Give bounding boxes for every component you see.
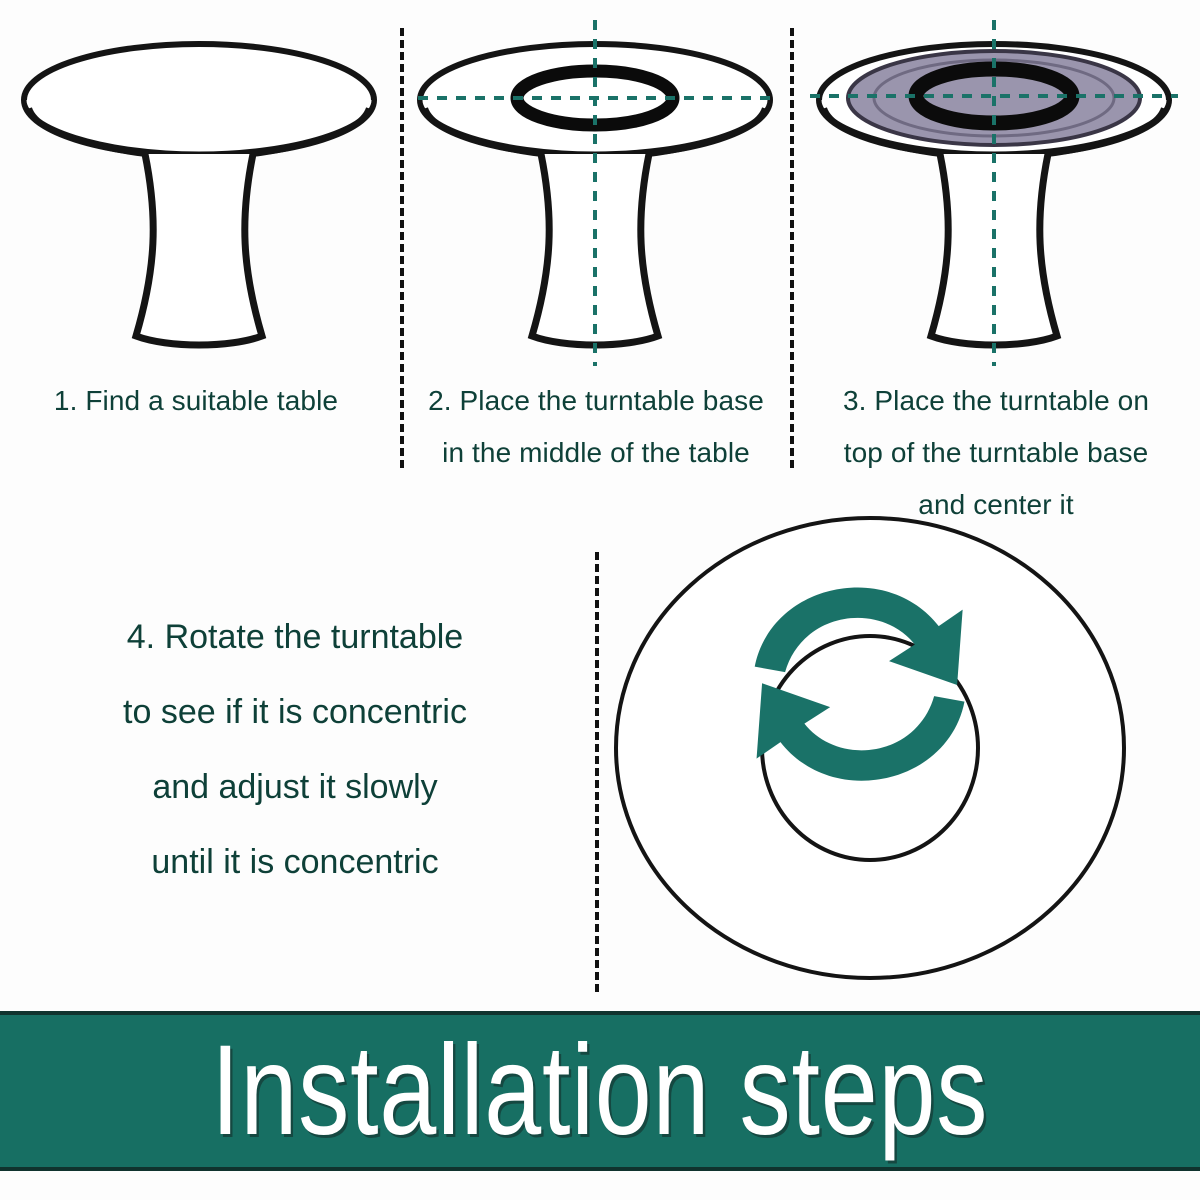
step-3-illustration <box>796 18 1192 368</box>
step-4-caption-line-4: until it is concentric <box>35 825 555 900</box>
banner-title: Installation steps <box>211 1027 988 1155</box>
step-4-illustration <box>610 512 1130 984</box>
infographic-stage: 1. Find a suitable table 2. Place the tu… <box>0 0 1200 1200</box>
dashed-separator-icon <box>400 28 404 468</box>
step-4-caption-line-3: and adjust it slowly <box>35 750 555 825</box>
step-1-illustration <box>8 18 390 368</box>
step-4-caption: 4. Rotate the turntable to see if it is … <box>35 600 555 900</box>
step-4-caption-line-1: 4. Rotate the turntable <box>35 600 555 675</box>
pedestal-table-icon <box>24 44 374 345</box>
step-4-caption-line-2: to see if it is concentric <box>35 675 555 750</box>
step-3-caption-line-2: top of the turntable base <box>798 427 1194 479</box>
installation-steps-banner: Installation steps <box>0 1011 1200 1171</box>
step-1-caption: 1. Find a suitable table <box>0 375 392 427</box>
dashed-separator-icon <box>790 28 794 468</box>
step-2-illustration <box>404 18 786 368</box>
dashed-separator-icon <box>595 552 599 992</box>
step-2-caption-line-1: 2. Place the turntable base <box>406 375 786 427</box>
step-2-caption: 2. Place the turntable base in the middl… <box>406 375 786 479</box>
step-3-caption-line-1: 3. Place the turntable on <box>798 375 1194 427</box>
step-3-caption: 3. Place the turntable on top of the tur… <box>798 375 1194 531</box>
step-2-caption-line-2: in the middle of the table <box>406 427 786 479</box>
step-1-caption-line-1: 1. Find a suitable table <box>0 375 392 427</box>
